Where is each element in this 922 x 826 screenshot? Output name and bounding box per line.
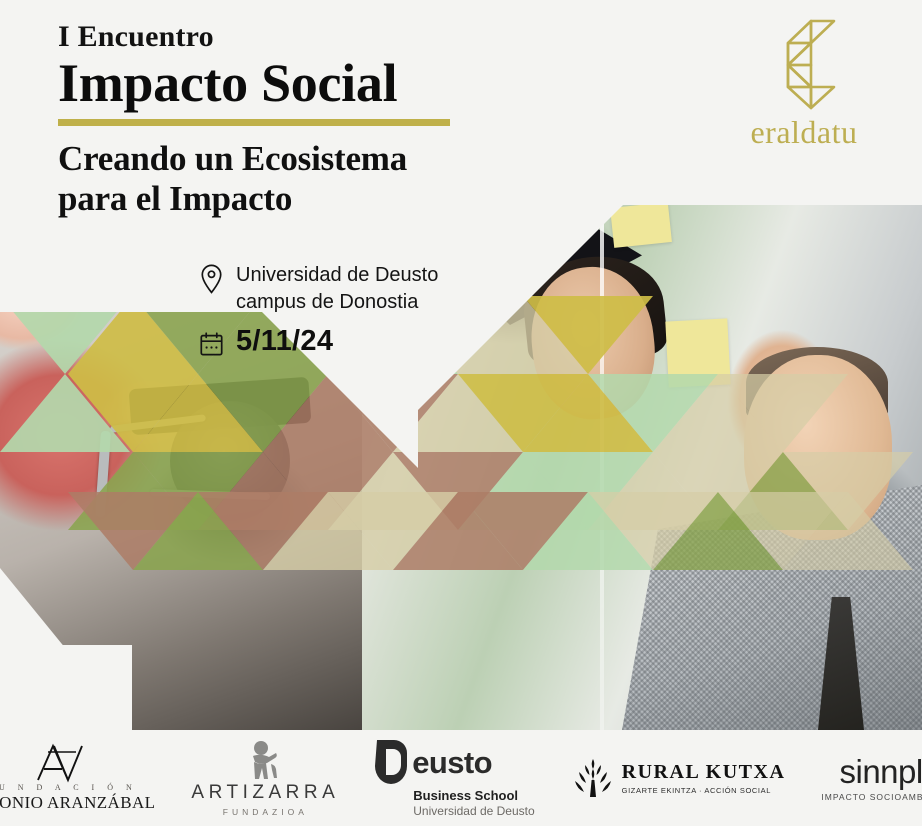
deusto-wordmark-row: eusto	[375, 738, 492, 786]
page-title: Impacto Social	[58, 55, 598, 111]
event-subtitle-line1: Creando un Ecosistema	[58, 139, 598, 179]
sponsor-name: ANTONIO ARANZÁBAL	[0, 793, 155, 813]
sponsor-name: ARTIZARRA	[191, 782, 339, 804]
brand-eraldatu: eraldatu	[734, 18, 874, 151]
sponsor-kicker: F U N D A C I Ó N	[0, 783, 137, 792]
sponsor-logo-fundacion-antonio-aranzabal[interactable]: F U N D A C I Ó N ANTONIO ARANZÁBAL	[0, 743, 173, 813]
wheat-sheaf-icon	[571, 756, 615, 800]
sponsor-sub: FUNDAZIOA	[223, 807, 308, 817]
sponsor-sub2: Universidad de Deusto	[413, 804, 534, 818]
sponsor-sub1: Business School	[413, 788, 518, 803]
event-date-text: 5/11/24	[236, 327, 333, 356]
event-location-line1: Universidad de Deusto	[236, 264, 438, 286]
sponsor-logo-rural-kutxa[interactable]: RURAL KUTXA GIZARTE EKINTZA · ACCIÓN SOC…	[553, 756, 804, 800]
sponsor-sub: IMPACTO SOCIOAMBIENTAL	[821, 792, 922, 802]
headline-block: I Encuentro Impacto Social Creando un Ec…	[58, 22, 598, 220]
sponsor-logo-deusto-business-school[interactable]: eusto Business School Universidad de Deu…	[357, 738, 552, 818]
sponsor-logo-strip: F U N D A C I Ó N ANTONIO ARANZÁBAL ARTI…	[0, 730, 922, 826]
event-subtitle-line2: para el Impacto	[58, 179, 598, 219]
sponsor-name: eusto	[412, 747, 492, 778]
sponsor-logo-sinnple[interactable]: sinnple IMPACTO SOCIOAMBIENTAL	[803, 755, 922, 802]
event-subtitle: Creando un Ecosistema para el Impacto	[58, 139, 598, 220]
mask-left-bar	[0, 645, 132, 730]
event-meta: Universidad de Deusto campus de Donostia…	[200, 262, 438, 361]
sponsor-name: RURAL KUTXA	[622, 761, 786, 784]
av-monogram-icon	[28, 743, 90, 783]
deusto-shield-d-icon	[375, 738, 409, 786]
rural-kutxa-row: RURAL KUTXA GIZARTE EKINTZA · ACCIÓN SOC…	[571, 756, 786, 800]
triangle-mosaic	[0, 205, 922, 730]
event-location-line2: campus de Donostia	[236, 291, 418, 313]
accent-rule	[58, 119, 450, 126]
map-pin-icon	[200, 264, 223, 299]
calendar-icon	[200, 332, 223, 361]
event-date-row: 5/11/24	[200, 327, 438, 361]
eraldatu-triangular-e-icon	[763, 18, 845, 110]
sponsor-logo-artizarra-fundazioa[interactable]: ARTIZARRA FUNDAZIOA	[173, 740, 357, 817]
brand-name: eraldatu	[734, 114, 874, 151]
poster-root: I Encuentro Impacto Social Creando un Ec…	[0, 0, 922, 826]
event-location-text: Universidad de Deusto campus de Donostia	[236, 262, 438, 315]
sponsor-name: sinnple	[840, 755, 922, 788]
artizarra-figure-icon	[240, 740, 290, 782]
event-kicker: I Encuentro	[58, 22, 598, 52]
sponsor-sub: GIZARTE EKINTZA · ACCIÓN SOCIAL	[622, 786, 786, 795]
event-location-row: Universidad de Deusto campus de Donostia	[200, 262, 438, 315]
